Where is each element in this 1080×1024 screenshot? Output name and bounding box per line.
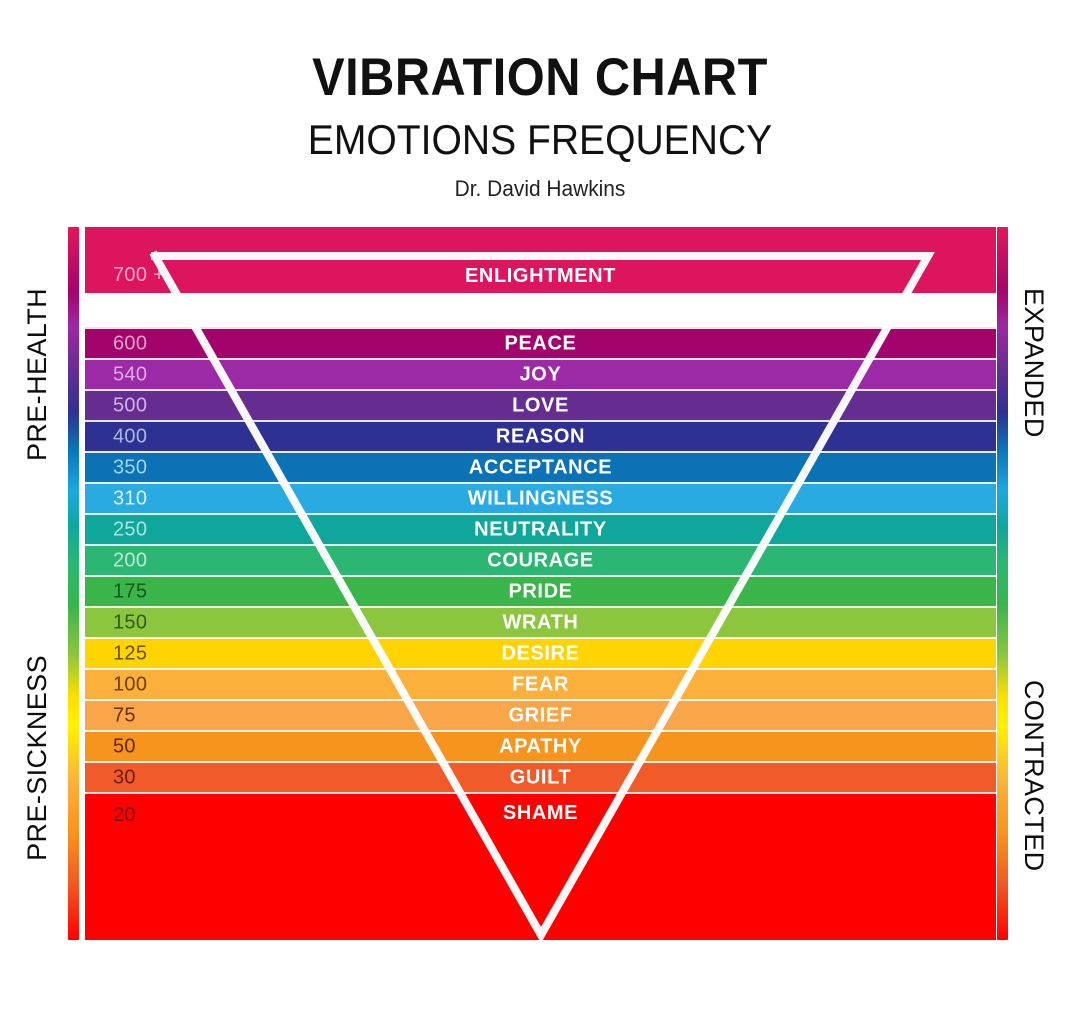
band-emotion-label: JOY (85, 363, 996, 386)
gradient-rail-left (68, 227, 79, 940)
chart-band: 500LOVE (85, 389, 996, 420)
band-emotion-label: WRATH (85, 611, 996, 634)
chart-band: 75GRIEF (85, 699, 996, 730)
gradient-rail-right (997, 227, 1008, 940)
axis-label-expanded: EXPANDED (1018, 288, 1049, 438)
band-emotion-label: LOVE (85, 394, 996, 417)
chart-band: 50APATHY (85, 730, 996, 761)
chart-band: 100FEAR (85, 668, 996, 699)
band-emotion-label: ENLIGHTMENT (85, 265, 996, 288)
chart-band: 150WRATH (85, 606, 996, 637)
band-emotion-label: COURAGE (85, 549, 996, 572)
axis-label-pre-sickness: PRE-SICKNESS (22, 655, 53, 861)
chart-band: 30GUILT (85, 761, 996, 792)
page-subtitle: EMOTIONS FREQUENCY (38, 106, 1042, 162)
chart-band: 175PRIDE (85, 575, 996, 606)
chart-band: 125DESIRE (85, 637, 996, 668)
band-emotion-label: APATHY (85, 735, 996, 758)
band-emotion-label: PEACE (85, 332, 996, 355)
axis-label-pre-health: PRE-HEALTH (22, 288, 53, 461)
band-emotion-label: DESIRE (85, 642, 996, 665)
band-emotion-label: ACCEPTANCE (85, 456, 996, 479)
band-emotion-label: GRIEF (85, 704, 996, 727)
chart-band: 540JOY (85, 358, 996, 389)
chart-band: 350ACCEPTANCE (85, 451, 996, 482)
band-emotion-label: REASON (85, 425, 996, 448)
band-emotion-label: GUILT (85, 766, 996, 789)
page-title: VIBRATION CHART (43, 0, 1037, 106)
vibration-chart-bands: 700 +ENLIGHTMENT600PEACE540JOY500LOVE400… (85, 227, 996, 940)
chart-band: 20SHAME (85, 792, 996, 940)
band-emotion-label: FEAR (85, 673, 996, 696)
chart-header: VIBRATION CHART EMOTIONS FREQUENCY Dr. D… (0, 0, 1080, 202)
band-emotion-label: PRIDE (85, 580, 996, 603)
chart-band: 600PEACE (85, 327, 996, 358)
band-emotion-label: SHAME (85, 802, 996, 825)
chart-author: Dr. David Hawkins (27, 162, 1053, 202)
chart-band: 400REASON (85, 420, 996, 451)
chart-band: 700 +ENLIGHTMENT (85, 227, 996, 293)
chart-band: 200COURAGE (85, 544, 996, 575)
band-emotion-label: NEUTRALITY (85, 518, 996, 541)
band-emotion-label: WILLINGNESS (85, 487, 996, 510)
axis-label-contracted: CONTRACTED (1018, 680, 1049, 872)
chart-band: 310WILLINGNESS (85, 482, 996, 513)
chart-band: 250NEUTRALITY (85, 513, 996, 544)
